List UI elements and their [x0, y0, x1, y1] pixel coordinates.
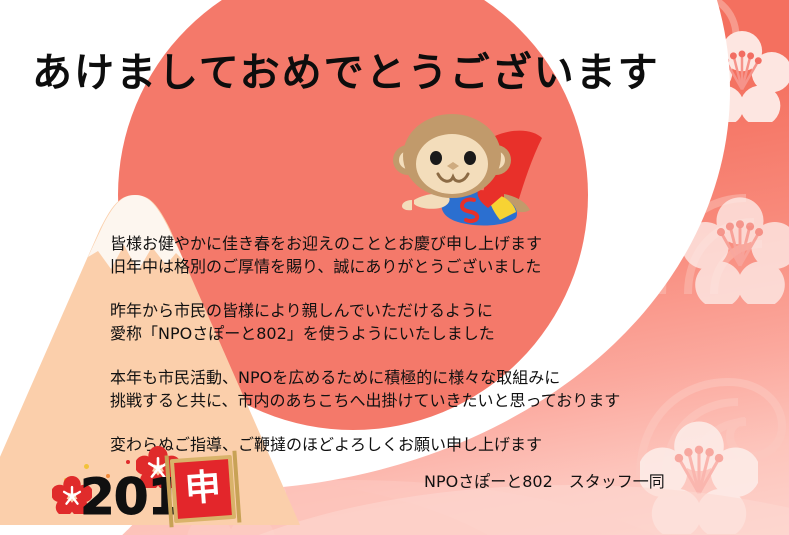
paragraph-1: 皆様お健やかに佳き春をお迎えのこととお慶び申し上げます 旧年中は格別のご厚情を賜…: [110, 232, 710, 278]
monkey-mascot-icon: [392, 104, 552, 234]
paragraph-line: 本年も市民活動、NPOを広めるために積極的に様々な取組みに: [110, 366, 710, 389]
sparkle-dot: [126, 460, 130, 464]
zodiac-kanji-label: 申: [170, 455, 236, 523]
paragraph-3: 本年も市民活動、NPOを広めるために積極的に様々な取組みに 挑戦すると共に、市内…: [110, 366, 710, 412]
page-title: あけましておめでとうございます: [32, 40, 660, 98]
paragraph-line: 旧年中は格別のご厚情を賜り、誠にありがとうございました: [110, 255, 710, 278]
new-year-card: あけましておめでとうございます: [0, 0, 789, 535]
paragraph-line: 愛称「NPOさぽーと802」を使うようにいたしました: [110, 322, 710, 345]
paragraph-2: 昨年から市民の皆様により親しんでいただけるように 愛称「NPOさぽーと802」を…: [110, 299, 710, 345]
year-badge: 2016 申: [50, 448, 240, 530]
paragraph-line: 昨年から市民の皆様により親しんでいただけるように: [110, 299, 710, 322]
signature-line: NPOさぽーと802 スタッフ一同: [424, 468, 665, 492]
paragraph-line: 挑戦すると共に、市内のあちこちへ出掛けていきたいと思っております: [110, 389, 710, 412]
zodiac-banner: 申: [170, 455, 236, 523]
paragraph-line: 皆様お健やかに佳き春をお迎えのこととお慶び申し上げます: [110, 232, 710, 255]
greeting-body: 皆様お健やかに佳き春をお迎えのこととお慶び申し上げます 旧年中は格別のご厚情を賜…: [110, 232, 710, 456]
